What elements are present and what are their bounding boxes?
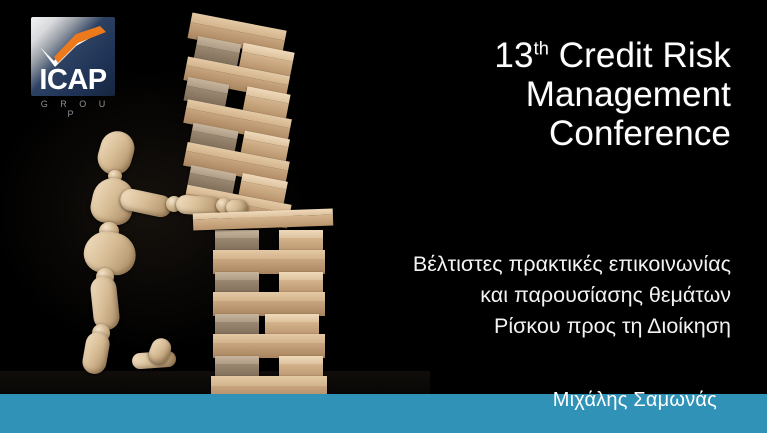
icap-logo: ICAP	[31, 17, 115, 96]
page-title: 13th Credit Risk Management Conference	[311, 36, 731, 154]
title-line-1-rest: Credit Risk	[549, 36, 731, 75]
logo-wordmark: ICAP	[31, 66, 115, 95]
subtitle-line-1: Βέλτιστες πρακτικές επικοινωνίας	[291, 249, 731, 280]
slide-subtitle: Βέλτιστες πρακτικές επικοινωνίας και παρ…	[291, 249, 731, 343]
speaker-name: Μιχάλης Σαμωνάς	[553, 390, 717, 410]
title-line-1: 13th Credit Risk	[311, 36, 731, 75]
title-line-2: Management	[311, 75, 731, 114]
presentation-slide: ICAP G R O U P 13th Credit Risk Manageme…	[0, 0, 767, 433]
title-ordinal-suffix: th	[534, 38, 549, 58]
subtitle-line-2: και παρουσίασης θεμάτων	[291, 280, 731, 311]
title-ordinal-number: 13	[494, 36, 533, 75]
title-line-3: Conference	[311, 114, 731, 153]
logo-tagline: G R O U P	[31, 99, 115, 119]
subtitle-line-3: Ρίσκου προς τη Διοίκηση	[291, 311, 731, 342]
